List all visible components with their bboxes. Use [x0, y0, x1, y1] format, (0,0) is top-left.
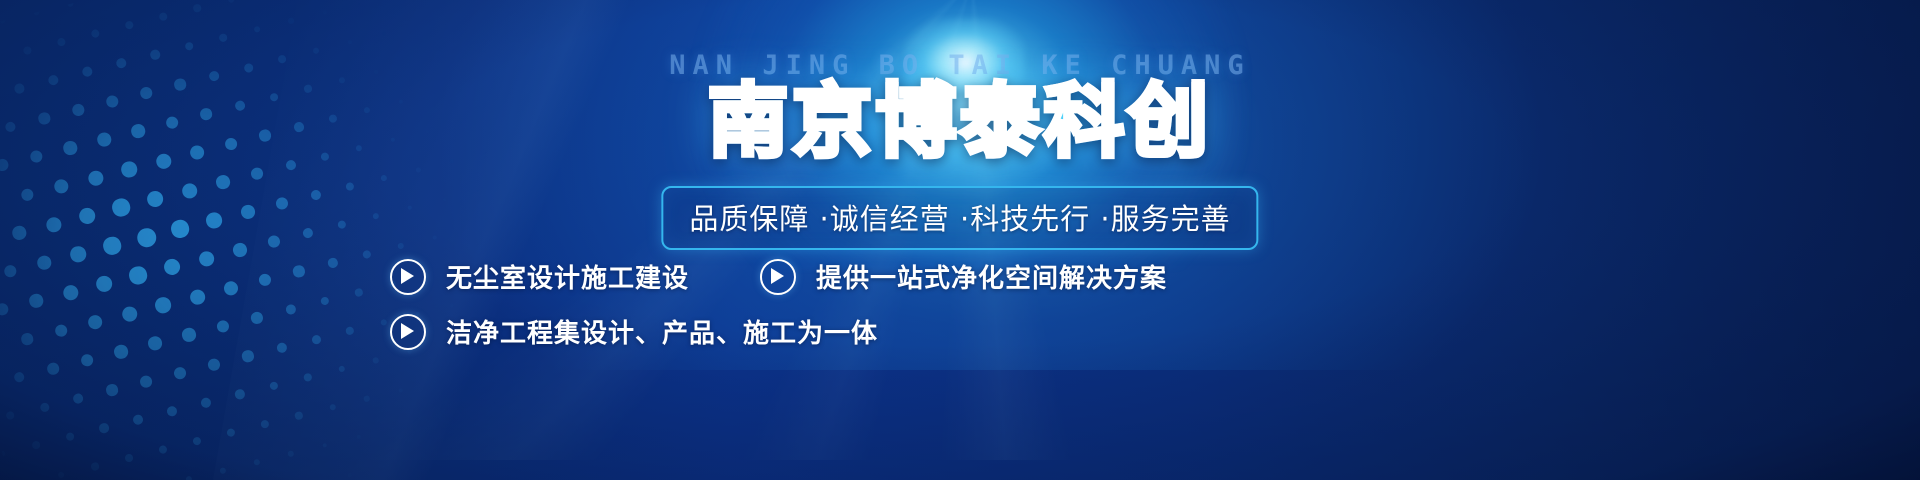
company-title-wrapper: 南京博泰科创: [0, 82, 1920, 162]
feature-row: 无尘室设计施工建设 提供一站式净化空间解决方案: [390, 258, 1570, 295]
slogan-box: 品质保障 ·诚信经营 ·科技先行 ·服务完善: [661, 186, 1258, 250]
feature-row: 洁净工程集设计、产品、施工为一体: [390, 313, 1570, 350]
circle-arrow-icon: [390, 259, 426, 295]
feature-list: 无尘室设计施工建设 提供一站式净化空间解决方案 洁净工程集设计、产品、施工为一体: [390, 258, 1570, 368]
feature-item-3: 洁净工程集设计、产品、施工为一体: [390, 313, 870, 350]
feature-label-1: 无尘室设计施工建设: [446, 258, 689, 295]
feature-item-2: 提供一站式净化空间解决方案: [760, 258, 1240, 295]
circle-arrow-icon: [760, 259, 796, 295]
circle-arrow-icon: [390, 314, 426, 350]
feature-label-2: 提供一站式净化空间解决方案: [816, 258, 1167, 295]
banner-content: NAN JING BO TAI KE CHUANG 南京博泰科创 品质保障 ·诚…: [0, 0, 1920, 480]
feature-item-1: 无尘室设计施工建设: [390, 258, 760, 295]
feature-label-3: 洁净工程集设计、产品、施工为一体: [446, 313, 878, 350]
slogan-text: 品质保障 ·诚信经营 ·科技先行 ·服务完善: [689, 196, 1230, 238]
company-title: 南京博泰科创: [708, 82, 1212, 162]
promo-banner: NAN JING BO TAI KE CHUANG 南京博泰科创 品质保障 ·诚…: [0, 0, 1920, 480]
